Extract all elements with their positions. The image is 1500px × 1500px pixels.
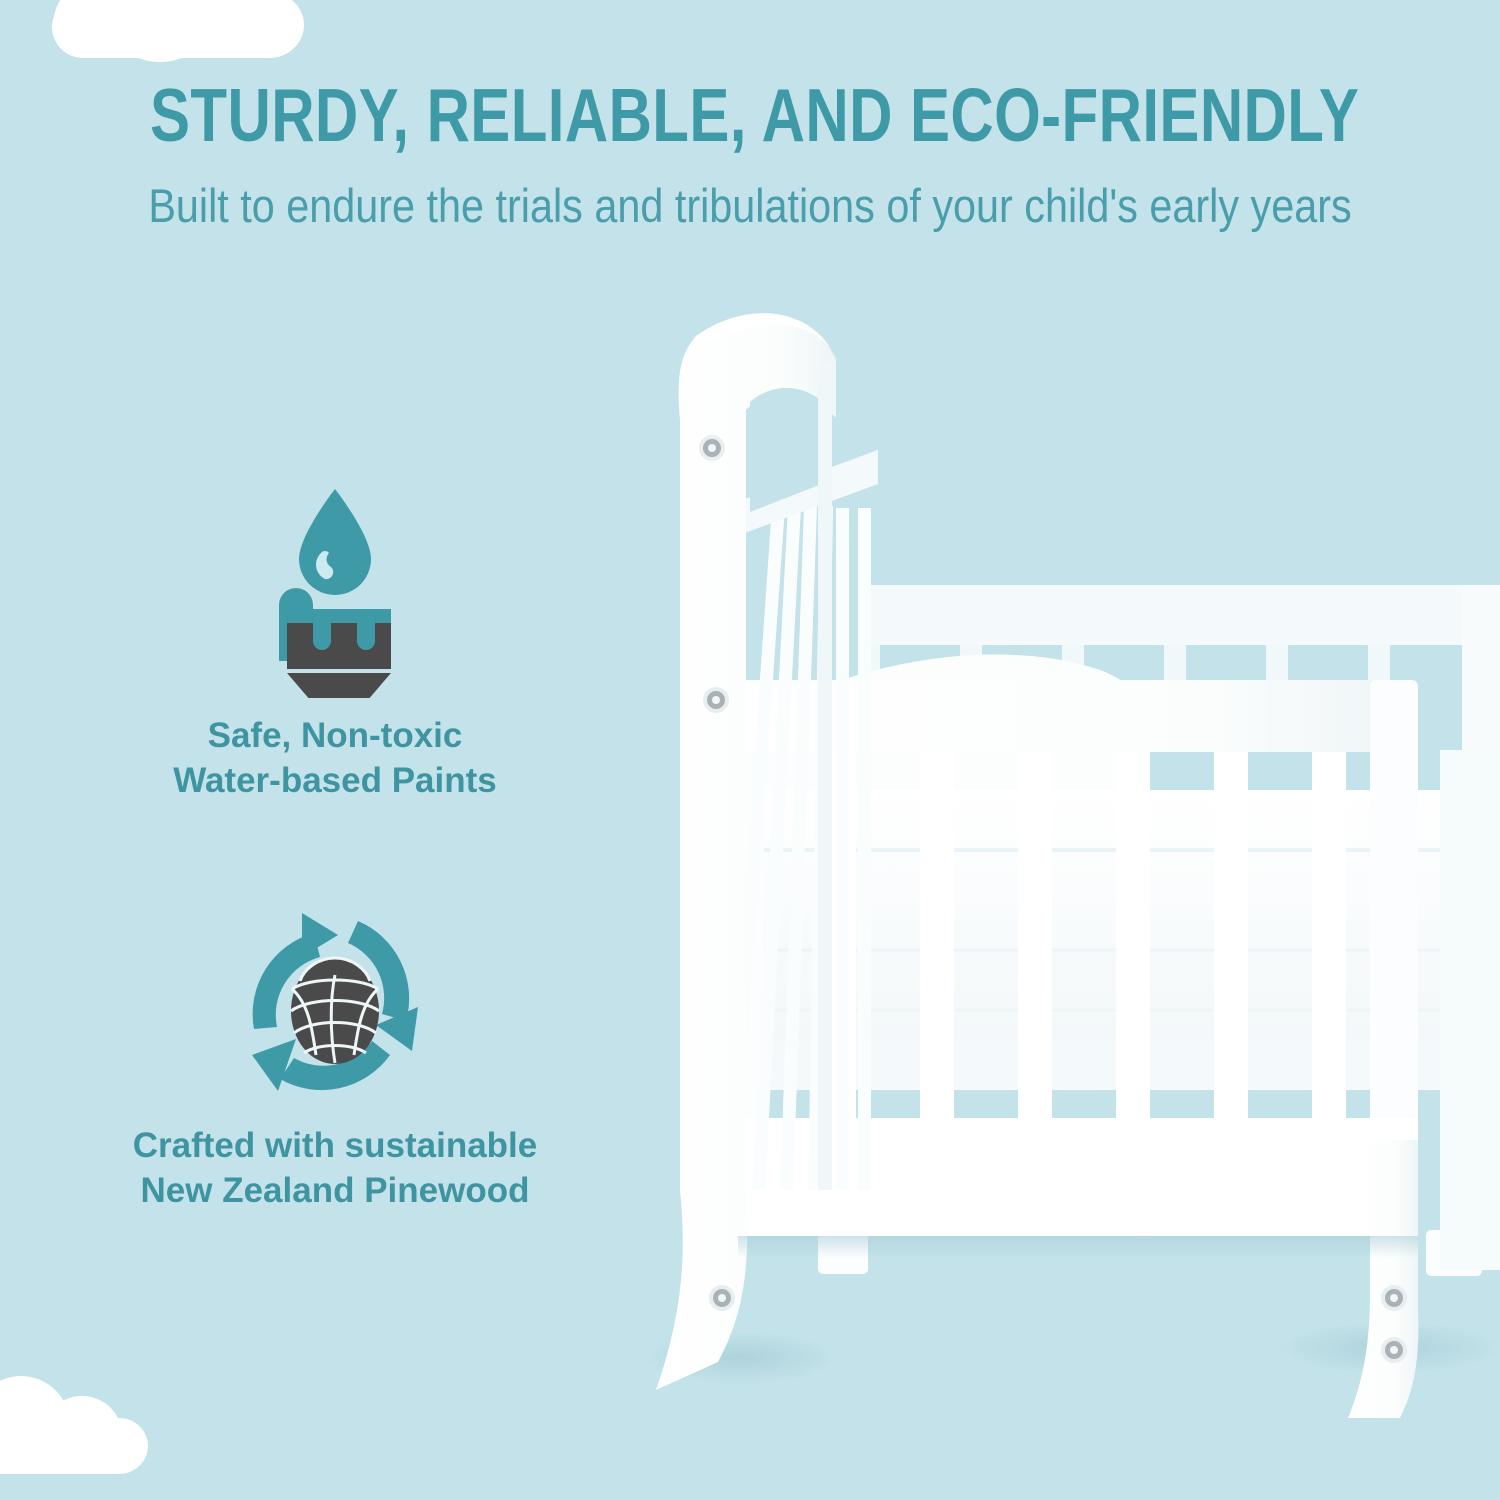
product-image-toddler-bed <box>600 250 1500 1430</box>
screw-head <box>709 1285 735 1311</box>
screw-head <box>703 687 729 713</box>
feature-caption-wood: Crafted with sustainable New Zealand Pin… <box>75 1124 595 1214</box>
marketing-image: STURDY, RELIABLE, AND ECO-FRIENDLY Built… <box>0 0 1500 1500</box>
feature-item-paint: Safe, Non-toxic Water-based Paints <box>75 480 595 804</box>
screw-head <box>1381 1285 1407 1311</box>
cloud-bottom-left-icon <box>0 1378 142 1474</box>
screw-head <box>699 435 725 461</box>
page-subtitle: Built to endure the trials and tribulati… <box>90 182 1410 229</box>
feature-caption-paint: Safe, Non-toxic Water-based Paints <box>75 714 595 804</box>
paint-brush-water-drop-icon <box>75 480 595 700</box>
feature-item-wood: Crafted with sustainable New Zealand Pin… <box>75 900 595 1214</box>
page-title: STURDY, RELIABLE, AND ECO-FRIENDLY <box>150 78 1350 153</box>
screw-head <box>1381 1337 1407 1363</box>
cloud-top-left-icon <box>52 0 292 58</box>
recycle-pine-cone-icon <box>75 900 595 1110</box>
